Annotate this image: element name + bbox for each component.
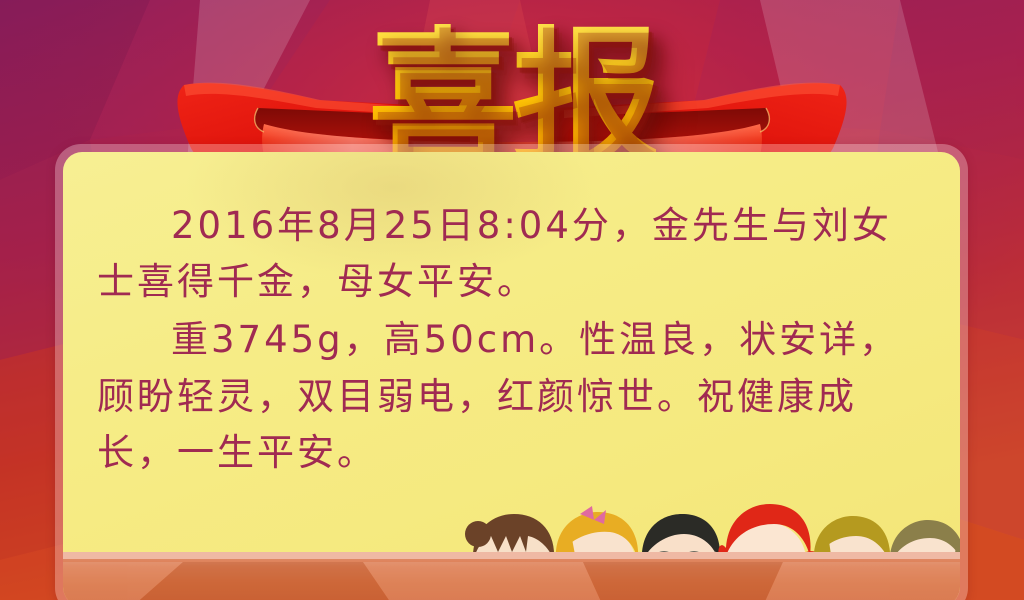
desk — [63, 552, 960, 600]
desk-edge — [63, 552, 960, 559]
desk-facets — [63, 552, 960, 600]
poster-canvas: 喜报 2016年8月25日8:04分，金先生与刘女士喜得千金，母女平安。 重37… — [0, 0, 1024, 600]
announcement-card-inner: 2016年8月25日8:04分，金先生与刘女士喜得千金，母女平安。 重3745g… — [63, 152, 960, 600]
announcement-paragraph-1: 2016年8月25日8:04分，金先生与刘女士喜得千金，母女平安。 — [97, 198, 926, 310]
announcement-paragraph-2: 重3745g，高50cm。性温良，状安详，顾盼轻灵，双目弱电，红颜惊世。祝健康成… — [97, 312, 926, 481]
announcement-card: 2016年8月25日8:04分，金先生与刘女士喜得千金，母女平安。 重3745g… — [55, 144, 968, 600]
announcement-text: 2016年8月25日8:04分，金先生与刘女士喜得千金，母女平安。 重3745g… — [97, 198, 926, 483]
